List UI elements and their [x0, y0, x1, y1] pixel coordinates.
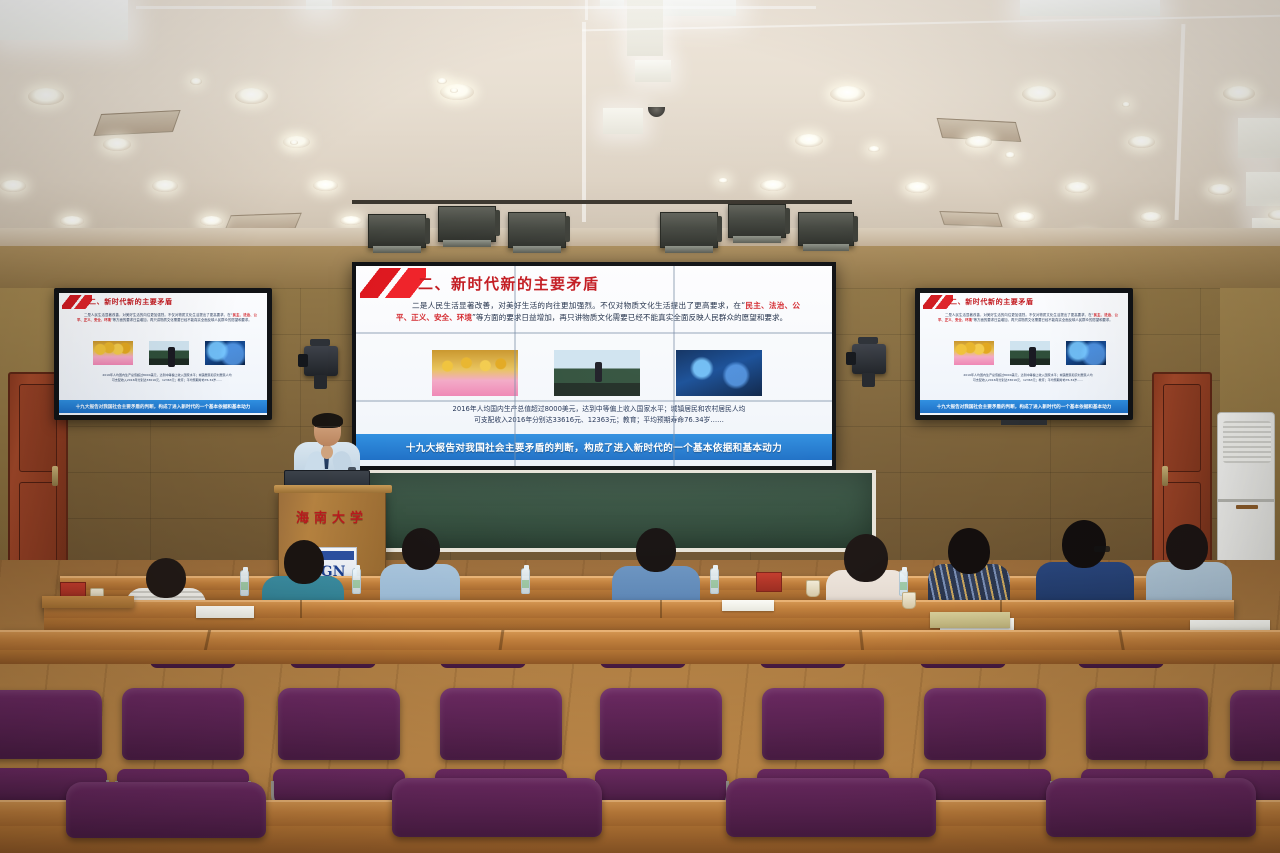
monitor-conclusion-banner: 十九大报告对我国社会主要矛盾的判断，构成了进入新时代的一个基本依据和基本动力 — [59, 400, 267, 413]
side-table-left — [42, 596, 134, 608]
downlight — [1013, 212, 1035, 222]
monitor-statistics: 2016年人均国内生产总值超过8000美元，达到中等偏上收入国家水平；城镇居民和… — [942, 373, 1114, 383]
ac-logo — [1236, 505, 1258, 509]
chair-front[interactable] — [726, 778, 936, 853]
skylight-panel — [1246, 172, 1280, 206]
desk-seam — [660, 600, 662, 618]
left-monitor[interactable]: 二、新时代新的主要矛盾 二是人民生活显著改善，对美好生活的向往更加强烈。不仅对物… — [54, 288, 272, 420]
water-bottle[interactable] — [521, 568, 530, 594]
ceiling-soffit-edge — [1175, 24, 1186, 220]
videowall-bezel — [673, 266, 675, 466]
downlight — [313, 180, 338, 191]
monitor-body-p1: 二是人民生活显著改善，对美好生活的向往更加强烈。不仅对物质文化生活提出了更高要求… — [84, 313, 233, 317]
videowall-bezel — [514, 266, 516, 466]
chair-back — [122, 688, 244, 760]
red-folder[interactable] — [756, 572, 782, 592]
notebook[interactable] — [722, 600, 774, 611]
stage-performance-photo — [1066, 341, 1106, 365]
left-monitor-slide: 二、新时代新的主要矛盾 二是人民生活显著改善，对美好生活的向往更加强烈。不仅对物… — [59, 293, 267, 415]
slide-statistics: 2016年人均国内生产总值超过8000美元，达到中等偏上收入国家水平；城镇居民和… — [404, 404, 794, 426]
downlight — [437, 78, 447, 84]
monitor-statistics: 2016年人均国内生产总值超过8000美元，达到中等偏上收入国家水平；城镇居民和… — [81, 373, 253, 383]
monitor-body-p2: ”等方面的要求日益增加，再只讲物质文化需要已经不能真实全面反映人民群众的愿望和要… — [111, 318, 252, 322]
slide-body-text: 二是人民生活显著改善，对美好生活的向往更加强烈。不仅对物质文化生活提出了更高要求… — [396, 300, 800, 324]
chair[interactable] — [278, 688, 400, 804]
person-head — [1062, 520, 1106, 568]
desk-seam — [300, 600, 302, 618]
slide-title: 二、新时代新的主要矛盾 — [418, 273, 600, 294]
monitor-photo-row — [93, 341, 245, 365]
downlight — [1005, 152, 1015, 158]
camera-lens-icon — [298, 354, 308, 367]
folder[interactable] — [930, 612, 1010, 628]
downlight — [200, 216, 223, 226]
stats-line-2: 可支配收入2016年分别达33616元、12363元；教育；平均预期寿命76.3… — [942, 378, 1114, 383]
glasses-icon — [315, 426, 340, 431]
skylight-panel — [603, 108, 643, 134]
red-ribbon-icon — [923, 295, 953, 309]
downlight — [450, 88, 458, 93]
stage-light — [728, 204, 786, 238]
monitor-banner-text: 十九大报告对我国社会主要矛盾的判断，构成了进入新时代的一个基本依据和基本动力 — [937, 404, 1112, 410]
water-bottle[interactable] — [240, 570, 249, 596]
skylight-strip — [0, 0, 128, 40]
downlight — [760, 180, 786, 191]
skylight-panel — [635, 60, 671, 82]
downlight — [190, 78, 202, 85]
downlight — [905, 182, 930, 193]
chair-back — [392, 778, 602, 837]
monitor-banner-text: 十九大报告对我国社会主要矛盾的判断，构成了进入新时代的一个基本依据和基本动力 — [76, 404, 251, 410]
chair-front[interactable] — [392, 778, 602, 853]
monitor-slide-title: 二、新时代新的主要矛盾 — [950, 297, 1034, 307]
downlight — [1128, 136, 1155, 148]
red-ribbon-icon — [360, 268, 426, 298]
stats-line-2: 可支配收入2016年分别达33616元、12363元；教育；平均预期寿命76.3… — [81, 378, 253, 383]
downlight — [152, 180, 178, 192]
door-panel-upper — [19, 384, 57, 472]
stage-light — [368, 214, 426, 248]
dome-camera-icon — [648, 104, 665, 117]
water-bottle[interactable] — [352, 568, 361, 594]
videowall-bezel — [356, 332, 832, 334]
monitor-slide-title: 二、新时代新的主要矛盾 — [89, 297, 173, 307]
camera-right — [852, 344, 886, 374]
skylight-panel — [1238, 118, 1280, 158]
chair-back — [440, 688, 562, 760]
downlight — [795, 134, 823, 147]
ceiling-seam — [585, 0, 588, 20]
right-monitor-slide: 二、新时代新的主要矛盾 二是人民生活显著改善，对美好生活的向往更加强烈。不仅对物… — [920, 293, 1128, 415]
classroom-photo — [149, 341, 189, 365]
downlight — [718, 178, 728, 183]
downlight — [1022, 86, 1056, 102]
chair[interactable] — [600, 688, 722, 804]
speaker-hand — [321, 445, 333, 459]
red-ribbon-icon — [62, 295, 92, 309]
gold-coins-photo — [432, 350, 518, 396]
skylight-strip — [1020, 0, 1160, 16]
camera-lens-icon — [846, 352, 856, 365]
ceiling — [0, 0, 1280, 232]
stage-light — [438, 206, 496, 242]
air-vent — [939, 211, 1002, 227]
classroom-photo — [554, 350, 640, 396]
person-head — [636, 528, 676, 572]
water-bottle[interactable] — [710, 568, 719, 594]
ceiling-soffit-edge — [136, 6, 816, 9]
downlight — [340, 216, 362, 225]
person-head — [844, 534, 888, 582]
slide-banner-text: 十九大报告对我国社会主要矛盾的判断，构成了进入新时代的一个基本依据和基本动力 — [406, 440, 782, 454]
monitor-body-p2: ”等方面的要求日益增加，再只讲物质文化需要已经不能真实全面反映人民群众的愿望和要… — [972, 318, 1113, 322]
main-presentation-screen[interactable]: 二、新时代新的主要矛盾 二是人民生活显著改善，对美好生活的向往更加强烈。不仅对物… — [352, 262, 836, 470]
monitor-slide-body: 二是人民生活显著改善，对美好生活的向往更加强烈。不仅对物质文化生活提出了更高要求… — [77, 313, 257, 324]
person-head — [284, 540, 324, 584]
monitor-photo-row — [954, 341, 1106, 365]
right-monitor-stand — [1001, 420, 1047, 425]
right-monitor[interactable]: 二、新时代新的主要矛盾 二是人民生活显著改善，对美好生活的向往更加强烈。不仅对物… — [915, 288, 1133, 420]
downlight — [965, 136, 992, 148]
stage-light — [660, 212, 718, 248]
slide-body-part2: ”等方面的要求日益增加，再只讲物质文化需要已经不能真实全面反映人民群众的愿望和要… — [472, 313, 787, 322]
downlight — [235, 88, 268, 104]
air-vent — [93, 110, 180, 136]
desk-row-third-front — [0, 650, 1280, 664]
monitor-slide-body: 二是人民生活显著改善，对美好生活的向往更加强烈。不仅对物质文化生活提出了更高要求… — [938, 313, 1118, 324]
camera-top-handle — [310, 339, 330, 346]
classroom-photo — [1010, 341, 1050, 365]
videowall-bezel — [356, 400, 832, 402]
glasses-icon — [1094, 546, 1110, 552]
slide-conclusion-banner: 十九大报告对我国社会主要矛盾的判断，构成了进入新时代的一个基本依据和基本动力 — [356, 434, 832, 460]
gold-coins-photo — [954, 341, 994, 365]
ceiling-seam — [582, 15, 1280, 32]
downlight — [1140, 212, 1162, 222]
stage-performance-photo — [676, 350, 762, 396]
camera-left — [304, 346, 338, 376]
chair[interactable] — [924, 688, 1046, 804]
chair-back — [1230, 690, 1280, 761]
downlight — [1065, 182, 1090, 193]
chair-back — [66, 782, 266, 838]
slide-body-part1: 二是人民生活显著改善，对美好生活的向往更加强烈。不仅对物质文化生活提出了更高要求… — [412, 301, 745, 310]
camera-top-handle — [858, 337, 878, 344]
chair-back — [924, 688, 1046, 760]
gold-coins-photo — [93, 341, 133, 365]
stats-line-2: 可支配收入2016年分别达33616元、12363元；教育；平均预期寿命76.3… — [404, 415, 794, 426]
downlight — [290, 140, 298, 145]
stage-light — [508, 212, 566, 248]
person-head — [948, 528, 990, 574]
downlight — [103, 138, 131, 151]
chair-front[interactable] — [66, 782, 266, 853]
chair-front[interactable] — [1046, 778, 1256, 853]
monitor-body-p1: 二是人民生活显著改善，对美好生活的向往更加强烈。不仅对物质文化生活提出了更高要求… — [945, 313, 1094, 317]
desk-row-third — [0, 630, 1280, 650]
chair-back — [762, 688, 884, 760]
downlight — [830, 86, 865, 102]
cup[interactable] — [902, 592, 916, 609]
chair-back — [0, 690, 102, 759]
door-panel-upper — [1163, 384, 1201, 472]
chair-back — [600, 688, 722, 760]
ceiling-soffit-edge — [582, 22, 586, 222]
person-head — [1166, 524, 1208, 570]
camera-mount — [862, 373, 875, 387]
notebook[interactable] — [196, 606, 254, 618]
lecture-hall-scene: 二、新时代新的主要矛盾 二是人民生活显著改善，对美好生活的向往更加强烈。不仅对物… — [0, 0, 1280, 853]
stage-performance-photo — [205, 341, 245, 365]
chair-back — [726, 778, 936, 837]
person-head — [402, 528, 440, 570]
downlight — [1122, 102, 1130, 107]
cup[interactable] — [806, 580, 820, 597]
chair-back — [1046, 778, 1256, 837]
ac-grille-icon — [1223, 421, 1271, 463]
downlight — [868, 146, 880, 152]
slide-content: 二、新时代新的主要矛盾 二是人民生活显著改善，对美好生活的向往更加强烈。不仅对物… — [356, 266, 832, 466]
door-handle-icon[interactable] — [52, 466, 58, 486]
podium-top — [274, 485, 392, 493]
person-head — [146, 558, 186, 598]
chair-back — [278, 688, 400, 760]
downlight — [60, 216, 84, 226]
downlight — [1223, 86, 1255, 101]
downlight — [28, 88, 64, 105]
camera-mount — [314, 375, 327, 389]
ac-divider — [1218, 499, 1274, 502]
podium-label: 海南大学 — [279, 507, 385, 526]
downlight — [1208, 184, 1232, 195]
chair-back — [1086, 688, 1208, 760]
stats-line-1: 2016年人均国内生产总值超过8000美元，达到中等偏上收入国家水平；城镇居民和… — [404, 404, 794, 415]
monitor-conclusion-banner: 十九大报告对我国社会主要矛盾的判断，构成了进入新时代的一个基本依据和基本动力 — [920, 400, 1128, 413]
downlight — [0, 180, 26, 192]
door-handle-icon[interactable] — [1162, 466, 1168, 486]
stage-light — [798, 212, 854, 246]
slide-photo-row — [432, 350, 762, 396]
